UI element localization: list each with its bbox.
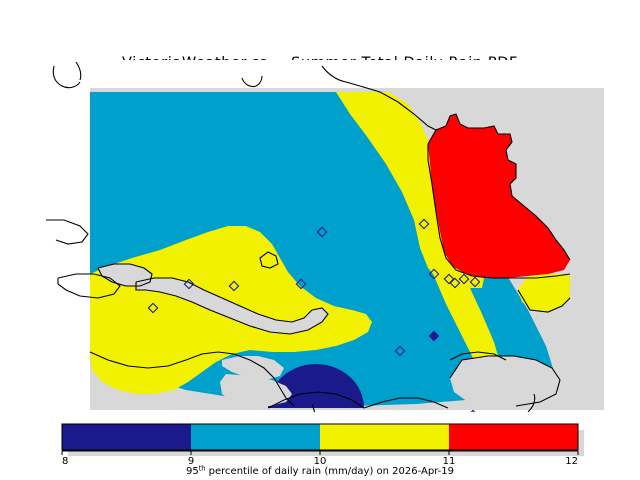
- contour-map: [36, 60, 604, 412]
- colorbar-caption: 95th percentile of daily rain (mm/day) o…: [186, 465, 454, 478]
- colorbar-bands: [62, 424, 578, 450]
- colorbar-tick-label: 12: [565, 456, 578, 467]
- colorbar-band-9-10: [191, 424, 320, 450]
- colorbar-tick-label: 8: [62, 456, 68, 467]
- weather-map-page: VictoriaWeather.ca -- Summer Total Daily…: [0, 0, 640, 480]
- map-panel: [36, 60, 604, 412]
- colorbar-band-8-9: [62, 424, 191, 450]
- colorbar-band-10-11: [320, 424, 449, 450]
- colorbar: 89101112 95th percentile of daily rain (…: [0, 418, 640, 480]
- colorbar-band-11-12: [449, 424, 578, 450]
- colorbar-panel: 89101112 95th percentile of daily rain (…: [0, 418, 640, 480]
